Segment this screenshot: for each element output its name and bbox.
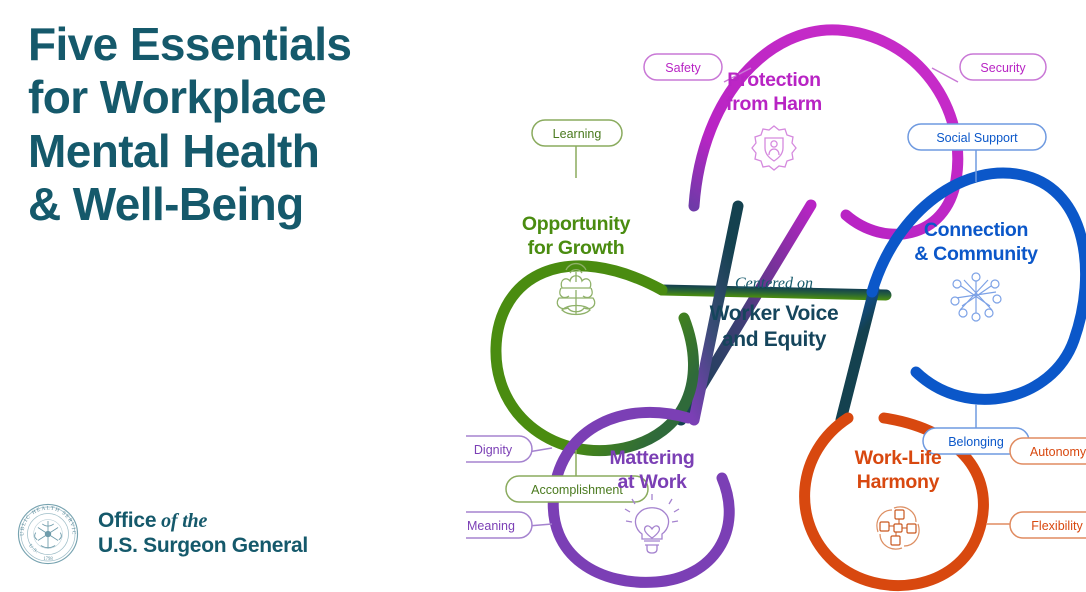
five-essentials-diagram: Protection from Harm Safety Securi	[466, 0, 1086, 592]
pill-accomplishment-label: Accomplishment	[531, 483, 623, 497]
brand-of-the-word: of the	[156, 510, 207, 532]
diagram-svg: Protection from Harm Safety Securi	[466, 0, 1086, 592]
petal-title-growth-line2: for Growth	[528, 237, 625, 259]
infographic-page: Five Essentials for Workplace Mental Hea…	[0, 0, 1086, 592]
pill-flexibility[interactable]: Flexibility	[1010, 512, 1086, 538]
brand-office-word: Office	[98, 509, 156, 532]
svg-text:PUBLIC HEALTH SERVICE: PUBLIC HEALTH SERVICE	[12, 498, 77, 536]
pill-security[interactable]: Security	[960, 54, 1046, 80]
seal-outer-text: PUBLIC HEALTH SERVICE	[12, 498, 77, 536]
pill-meaning[interactable]: Meaning	[466, 512, 532, 538]
pill-autonomy[interactable]: Autonomy	[1010, 438, 1086, 464]
center-kicker: Centered on	[735, 275, 813, 292]
petal-title-growth-line1: Opportunity	[522, 213, 631, 235]
pill-social-support[interactable]: Social Support	[908, 124, 1046, 150]
brand-line-surgeon-general: U.S. Surgeon General	[98, 534, 308, 559]
pill-safety[interactable]: Safety	[644, 54, 722, 80]
pill-safety-label: Safety	[665, 61, 701, 75]
pill-dignity-label: Dignity	[474, 443, 513, 457]
pill-social-support-label: Social Support	[936, 131, 1018, 145]
title-block: Five Essentials for Workplace Mental Hea…	[28, 18, 458, 231]
network-nodes-icon	[951, 273, 1001, 321]
link-community-to-harmony	[841, 290, 874, 420]
petal-title-connection-line2: & Community	[914, 243, 1038, 265]
pill-learning[interactable]: Learning	[532, 120, 622, 146]
petal-title-protection-line2: from Harm	[726, 93, 822, 115]
public-health-service-seal-icon: PUBLIC HEALTH SERVICE U.S. 1798	[12, 498, 84, 570]
petal-title-connection-line1: Connection	[924, 219, 1028, 241]
pill-dignity[interactable]: Dignity	[466, 436, 532, 462]
petal-title-mattering-line1: Mattering	[609, 447, 694, 469]
shield-person-badge-icon	[752, 126, 796, 170]
petal-title-mattering-line2: at Work	[617, 471, 687, 493]
pill-autonomy-label: Autonomy	[1030, 445, 1086, 459]
seal-year: 1798	[43, 557, 53, 562]
page-title: Five Essentials for Workplace Mental Hea…	[28, 18, 458, 231]
center-title-line1: Worker Voice	[710, 302, 839, 325]
center-title-line2: and Equity	[722, 328, 827, 351]
seal-lower-text: U.S.	[27, 543, 39, 555]
brand-block: PUBLIC HEALTH SERVICE U.S. 1798 Office o…	[12, 498, 308, 570]
pill-belonging-label: Belonging	[948, 435, 1004, 449]
brand-line-office: Office of the	[98, 509, 308, 534]
pinwheel-squares-icon	[877, 507, 919, 549]
svg-text:U.S.: U.S.	[27, 543, 39, 555]
petal-title-harmony-line1: Work-Life	[855, 447, 942, 469]
pill-security-label: Security	[980, 61, 1026, 75]
petal-loop-connection-community	[872, 173, 1086, 399]
pill-meaning-label: Meaning	[467, 519, 515, 533]
petal-title-harmony-line2: Harmony	[857, 471, 940, 493]
petal-title-protection-line1: Protection	[727, 69, 820, 91]
lightbulb-heart-icon	[625, 494, 679, 553]
pill-learning-label: Learning	[553, 127, 602, 141]
brand-text: Office of the U.S. Surgeon General	[98, 509, 308, 559]
pill-flexibility-label: Flexibility	[1031, 519, 1083, 533]
